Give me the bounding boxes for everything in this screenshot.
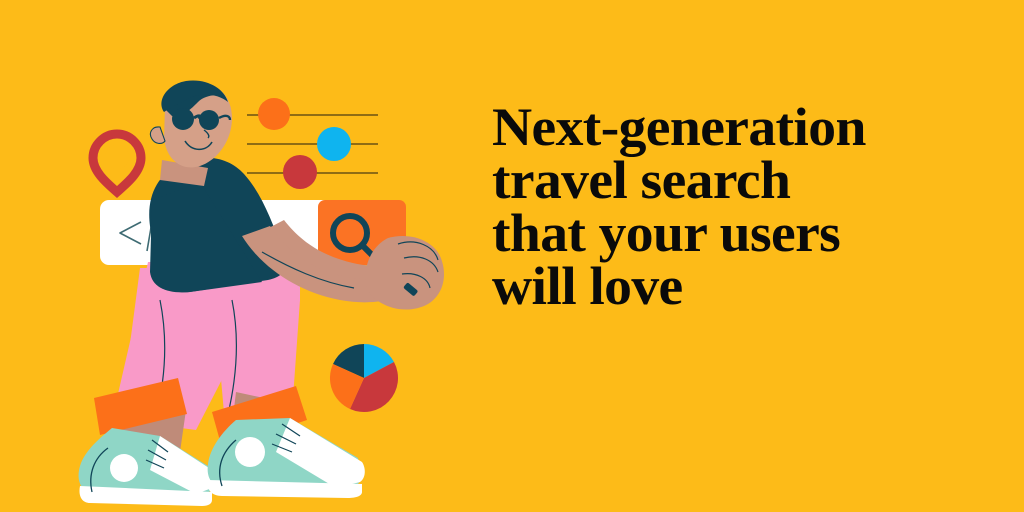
sneaker-right bbox=[208, 418, 365, 498]
sneaker-left bbox=[79, 428, 215, 506]
location-pin-icon bbox=[93, 134, 141, 192]
slider-knob-3[interactable] bbox=[283, 155, 317, 189]
slider-group bbox=[247, 98, 378, 189]
page-title: Next-generation travel search that your … bbox=[492, 101, 1024, 313]
person-hand bbox=[365, 236, 444, 310]
illustration-panel bbox=[0, 0, 480, 512]
illustration-svg bbox=[0, 0, 480, 512]
slider-knob-2[interactable] bbox=[317, 127, 351, 161]
marketing-banner: Next-generation travel search that your … bbox=[0, 0, 1024, 512]
slider-knob-1[interactable] bbox=[258, 98, 290, 130]
pie-chart bbox=[330, 344, 398, 412]
